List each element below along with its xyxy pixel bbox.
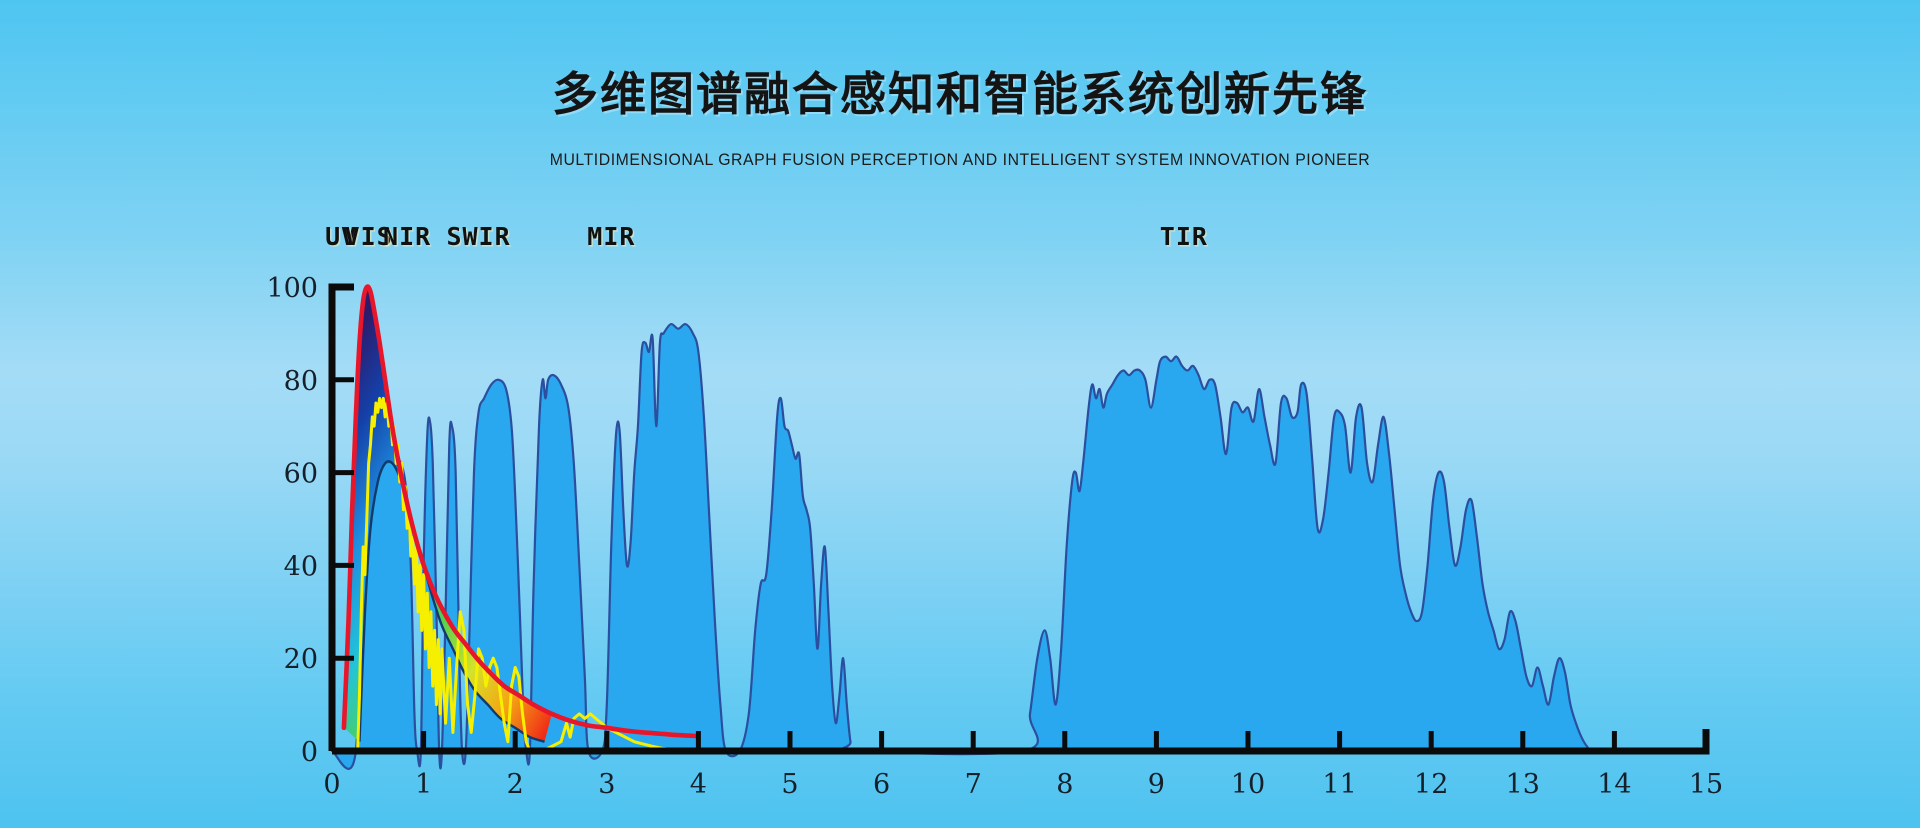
y-tick-label: 80 (284, 366, 318, 397)
x-tick-label: 2 (507, 769, 524, 800)
y-tick-label: 60 (284, 459, 318, 490)
x-tick-label: 0 (323, 769, 340, 800)
y-tick-label: 20 (284, 644, 318, 675)
x-tick-label: 5 (781, 769, 798, 800)
y-tick-labels: 020406080100 (266, 273, 318, 768)
x-tick-label: 14 (1597, 769, 1631, 800)
spectral-chart: 0123456789101112131415 020406080100 (0, 0, 1920, 828)
x-tick-label: 6 (873, 769, 890, 800)
x-tick-label: 8 (1056, 769, 1073, 800)
y-tick-label: 100 (266, 273, 318, 304)
banner-stage: 多维图谱融合感知和智能系统创新先锋 MULTIDIMENSIONAL GRAPH… (0, 0, 1920, 828)
x-tick-label: 4 (690, 769, 707, 800)
x-tick-label: 1 (415, 769, 432, 800)
x-tick-label: 15 (1689, 769, 1723, 800)
y-tick-label: 0 (301, 737, 318, 768)
x-tick-labels: 0123456789101112131415 (323, 769, 1723, 800)
x-tick-label: 9 (1148, 769, 1165, 800)
x-tick-label: 12 (1414, 769, 1448, 800)
x-tick-label: 10 (1231, 769, 1265, 800)
x-tick-label: 13 (1506, 769, 1540, 800)
y-tick-label: 40 (284, 551, 318, 582)
x-tick-label: 7 (965, 769, 982, 800)
x-tick-label: 3 (598, 769, 615, 800)
series-layer (332, 287, 1614, 769)
x-tick-label: 11 (1322, 769, 1356, 800)
